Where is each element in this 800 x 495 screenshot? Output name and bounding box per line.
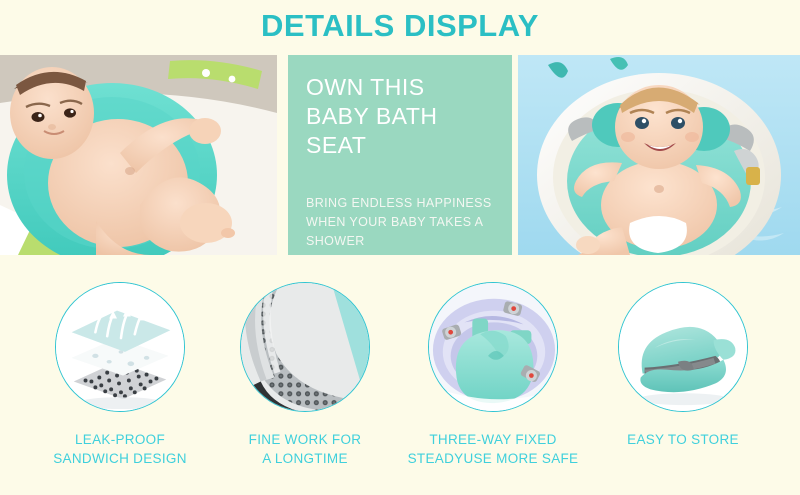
feature-item-leak-proof: LEAK-PROOF SANDWICH DESIGN [55,282,185,468]
three-way-fixed-icon [429,283,557,411]
sandwich-layers-icon [56,283,184,411]
feature-item-fine-work: FINE WORK FOR A LONGTIME [240,282,370,468]
feature-circle-1 [55,282,185,412]
feature-caption-1: LEAK-PROOF SANDWICH DESIGN [20,430,220,468]
feature-circle-4 [618,282,748,412]
feature-circle-3 [428,282,558,412]
baby-in-bath-tub-left-illustration [0,55,277,255]
hero-photo-right [518,55,800,255]
page-title: DETAILS DISPLAY [0,8,800,44]
feature-item-three-way-fixed: THREE-WAY FIXED STEADYUSE MORE SAFE [428,282,558,468]
feature-caption-3: THREE-WAY FIXED STEADYUSE MORE SAFE [393,430,593,468]
mesh-fabric-icon [241,283,369,411]
feature-circle-2 [240,282,370,412]
hero-heading: OWN THIS BABY BATH SEAT [306,73,494,160]
baby-in-bath-tub-right-illustration [518,55,800,255]
hero-photo-left [0,55,277,255]
folded-seat-icon [619,283,747,411]
hero-text-panel: OWN THIS BABY BATH SEAT BRING ENDLESS HA… [288,55,512,255]
feature-item-easy-to-store: EASY TO STORE [618,282,748,449]
hero-subheading: BRING ENDLESS HAPPINESS WHEN YOUR BABY T… [306,194,494,251]
details-display-page: DETAILS DISPLAY [0,0,800,495]
feature-caption-4: EASY TO STORE [583,430,783,449]
feature-caption-2: FINE WORK FOR A LONGTIME [205,430,405,468]
